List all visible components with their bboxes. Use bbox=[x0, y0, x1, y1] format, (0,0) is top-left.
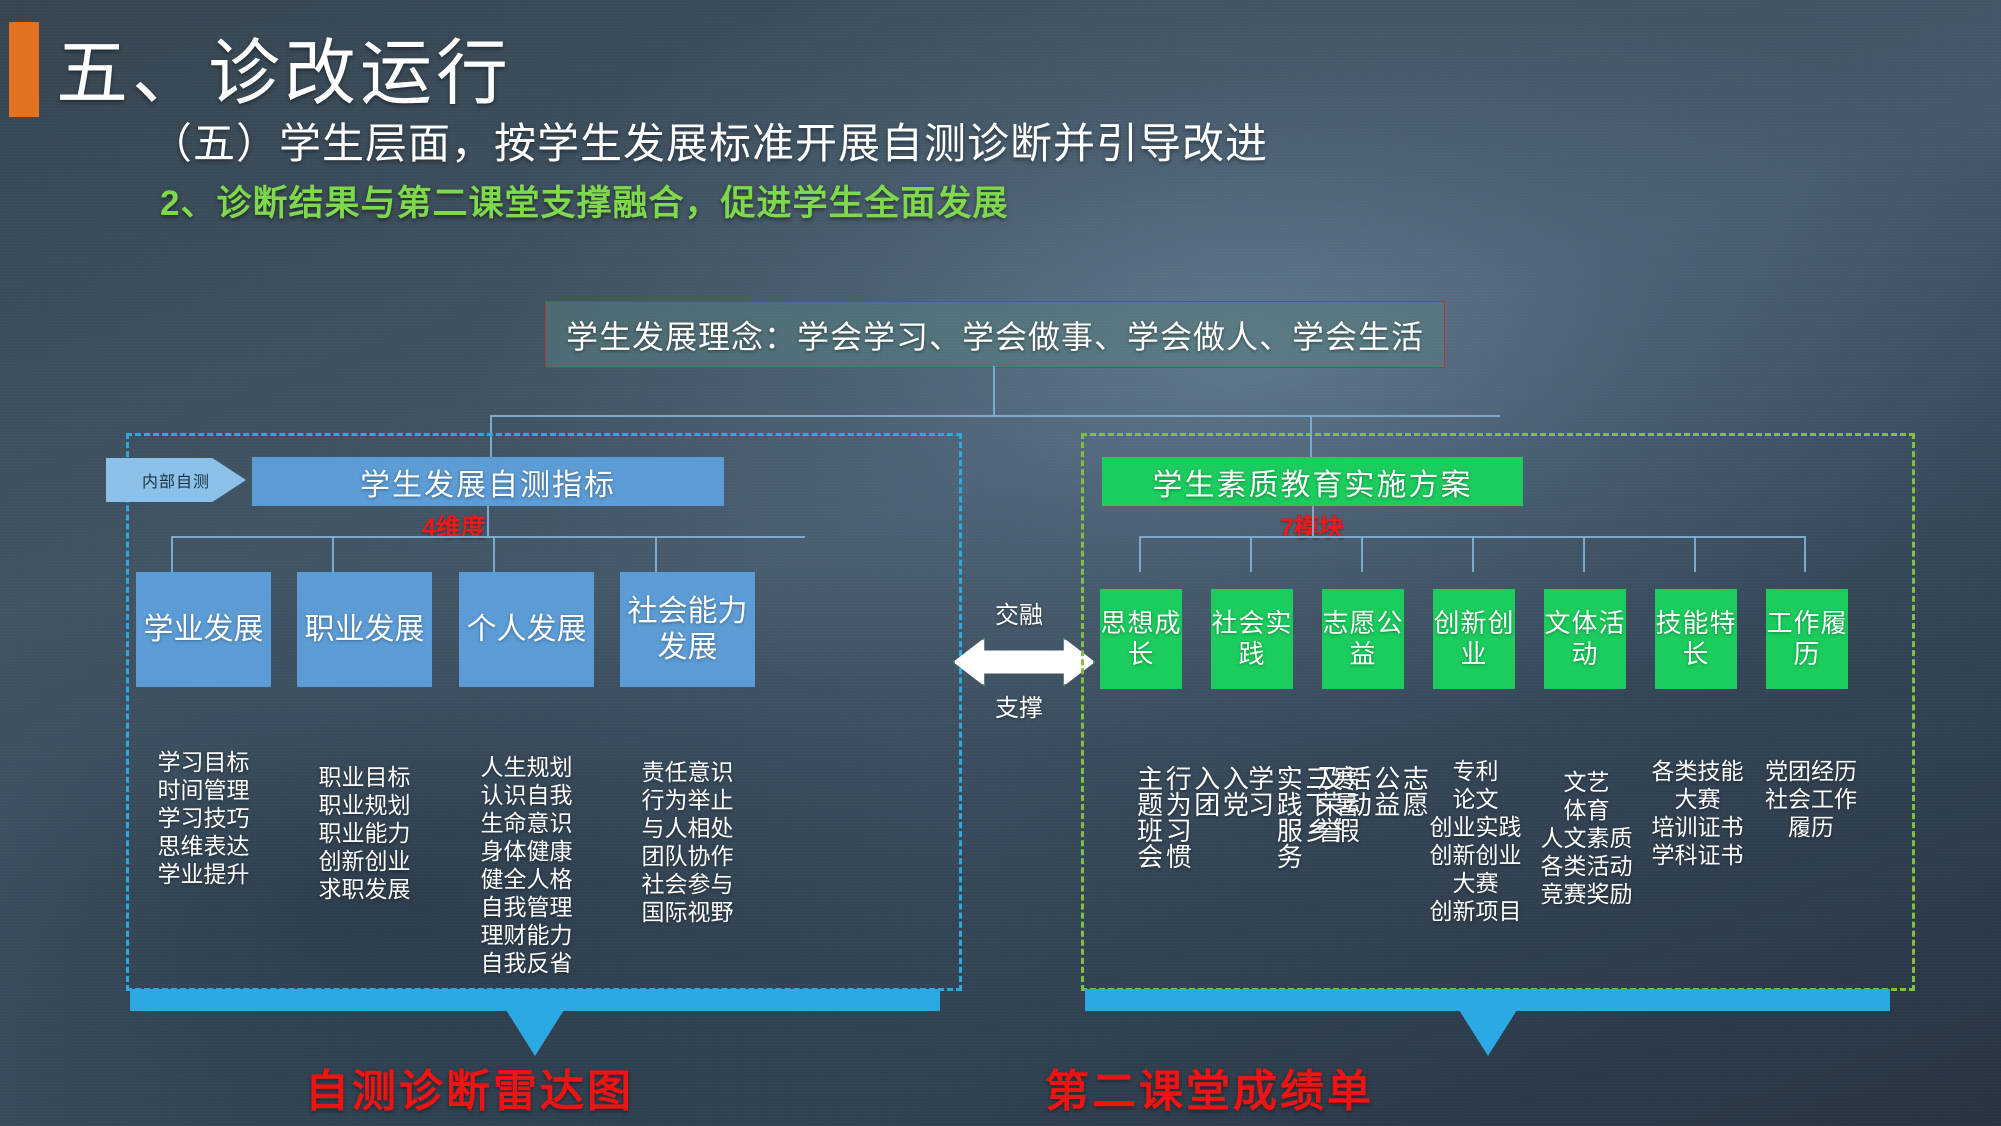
node-box[interactable]: 社会能力发展 bbox=[620, 572, 755, 687]
right-tree-branch-2 bbox=[1250, 536, 1252, 572]
node-box[interactable]: 个人发展 bbox=[459, 572, 594, 687]
node-items-list: 人生规划 认识自我 生命意识 身体健康 健全人格 自我管理 理财能力 自我反省 bbox=[459, 753, 594, 977]
node-box[interactable]: 职业发展 bbox=[297, 572, 432, 687]
node-items-list: 责任意识 行为举止 与人相处 团队协作 社会参与 国际视野 bbox=[620, 758, 755, 926]
node-label: 社会能力发展 bbox=[620, 594, 755, 665]
node-items-list-vertical: 入党 入团 行为习惯 主题班会 bbox=[1134, 765, 1248, 965]
left-tree-branch-3 bbox=[493, 536, 495, 572]
left-tree-trunk bbox=[487, 506, 489, 536]
node-box[interactable]: 志愿公益 bbox=[1322, 589, 1404, 689]
right-tree-trunk bbox=[1312, 506, 1314, 536]
node-items-list: 党团经历 社会工作 履历 bbox=[1741, 757, 1881, 841]
right-tree-branch-6 bbox=[1694, 536, 1696, 572]
left-bottom-caption: 自测诊断雷达图 bbox=[305, 1055, 634, 1119]
node-box[interactable]: 工作履历 bbox=[1766, 589, 1848, 689]
section-highlight-text: 2、诊断结果与第二课堂支撑融合，促进学生全面发展 bbox=[160, 175, 1008, 226]
node-label: 文体活动 bbox=[1544, 608, 1626, 669]
node-box[interactable]: 文体活动 bbox=[1544, 589, 1626, 689]
right-panel-header[interactable]: 学生素质教育实施方案 bbox=[1102, 457, 1523, 506]
accent-bar bbox=[9, 22, 39, 117]
node-box[interactable]: 社会实践 bbox=[1211, 589, 1293, 689]
node-label: 思想成长 bbox=[1100, 608, 1182, 669]
middle-top-label: 交融 bbox=[995, 595, 1043, 630]
left-tree-branch-4 bbox=[655, 536, 657, 572]
page-title: 五、诊改运行 bbox=[56, 14, 512, 119]
node-box[interactable]: 思想成长 bbox=[1100, 589, 1182, 689]
node-label: 个人发展 bbox=[467, 612, 587, 647]
node-box[interactable]: 学业发展 bbox=[136, 572, 271, 687]
right-bottom-arrow-icon bbox=[1459, 1010, 1517, 1056]
left-tree-rail bbox=[171, 536, 805, 538]
right-bottom-caption: 第二课堂成绩单 bbox=[1045, 1055, 1374, 1119]
left-panel-header[interactable]: 学生发展自测指标 bbox=[252, 457, 724, 506]
right-tree-branch-4 bbox=[1472, 536, 1474, 572]
page-subtitle: （五）学生层面，按学生发展标准开展自测诊断并引导改进 bbox=[150, 110, 1268, 171]
node-items-list: 职业目标 职业规划 职业能力 创新创业 求职发展 bbox=[297, 763, 432, 903]
bidirectional-arrow-icon bbox=[953, 638, 1095, 686]
node-label: 职业发展 bbox=[305, 612, 425, 647]
connector-trunk bbox=[993, 366, 995, 416]
node-label: 技能特长 bbox=[1655, 608, 1737, 669]
connector-cross bbox=[490, 415, 1500, 417]
slide-background: 五、诊改运行 （五）学生层面，按学生发展标准开展自测诊断并引导改进 2、诊断结果… bbox=[0, 0, 2001, 1126]
right-tree-branch-5 bbox=[1583, 536, 1585, 572]
right-tree-branch-3 bbox=[1361, 536, 1363, 572]
middle-bottom-label: 支撑 bbox=[995, 688, 1043, 723]
right-bottom-bar bbox=[1085, 989, 1890, 1011]
left-tree-branch-2 bbox=[332, 536, 334, 572]
concept-box: 学生发展理念：学会学习、学会做事、学会做人、学会生活 bbox=[545, 301, 1445, 368]
node-items-list: 学习目标 时间管理 学习技巧 思维表达 学业提升 bbox=[136, 748, 271, 888]
left-bottom-bar bbox=[130, 989, 940, 1011]
node-box[interactable]: 技能特长 bbox=[1655, 589, 1737, 689]
left-dimension-label: 4维度 bbox=[422, 508, 486, 544]
right-tree-branch-1 bbox=[1139, 536, 1141, 572]
right-tree-branch-7 bbox=[1804, 536, 1806, 572]
node-label: 创新创业 bbox=[1433, 608, 1515, 669]
node-label: 社会实践 bbox=[1211, 608, 1293, 669]
node-label: 工作履历 bbox=[1766, 608, 1848, 669]
left-bottom-arrow-icon bbox=[506, 1010, 564, 1056]
left-tree-branch-1 bbox=[171, 536, 173, 572]
node-box[interactable]: 创新创业 bbox=[1433, 589, 1515, 689]
node-label: 学业发展 bbox=[144, 612, 264, 647]
node-label: 志愿公益 bbox=[1322, 608, 1404, 669]
